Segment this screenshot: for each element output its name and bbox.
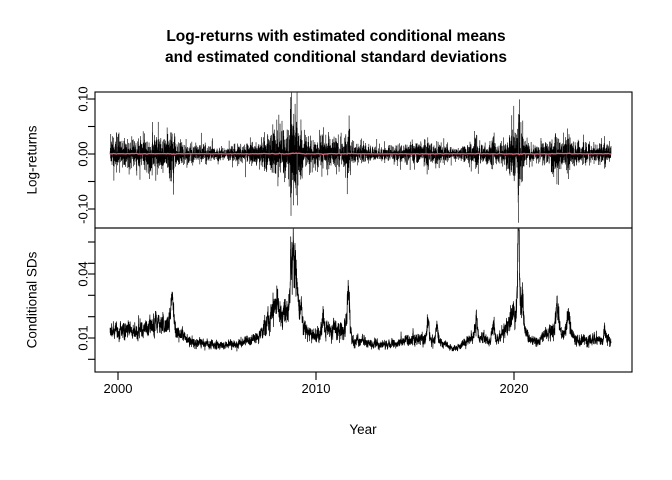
- bottom-y-tick-0.04: 0.04: [76, 261, 91, 286]
- top-y-tick-0.00: 0.00: [76, 141, 91, 166]
- conditional-sd-series: [110, 193, 611, 351]
- top-panel: 0.10 0.00 -0.10 Log-returns: [25, 85, 633, 228]
- plot-area: 0.10 0.00 -0.10 Log-returns 0.04: [0, 0, 672, 480]
- bottom-y-axis-title: Conditional SDs: [25, 251, 40, 348]
- x-tick-2010: 2010: [302, 381, 331, 396]
- bottom-panel: 0.04 0.01 Conditional SDs: [25, 193, 633, 372]
- bottom-panel-frame: [95, 228, 632, 372]
- top-y-tick-0.10: 0.10: [76, 86, 91, 111]
- x-axis-ticks: [118, 372, 514, 380]
- x-axis: 2000 2010 2020 Year: [104, 372, 529, 437]
- top-y-tick-neg0.10: -0.10: [76, 194, 91, 224]
- bottom-y-tick-0.01: 0.01: [76, 325, 91, 350]
- x-tick-2020: 2020: [500, 381, 529, 396]
- x-axis-title: Year: [349, 422, 377, 437]
- top-y-axis-title: Log-returns: [25, 125, 40, 194]
- chart-figure: Log-returns with estimated conditional m…: [0, 0, 672, 480]
- x-tick-2000: 2000: [104, 381, 133, 396]
